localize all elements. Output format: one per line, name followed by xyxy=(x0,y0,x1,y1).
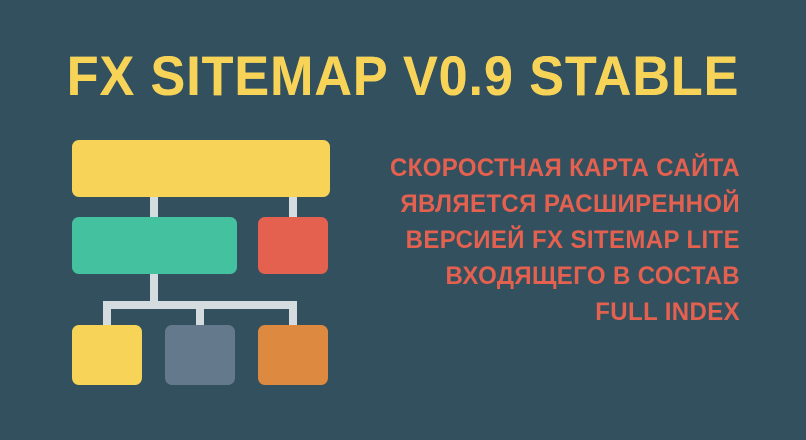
sitemap-diagram xyxy=(0,0,360,440)
connector-bus-to-yellow xyxy=(103,301,111,327)
description-line: FULL INDEX xyxy=(356,294,740,330)
root-node xyxy=(72,140,330,197)
promo-banner: FX SITEMAP V0.9 STABLE СКОРОСТНАЯ КАРТА … xyxy=(0,0,806,440)
branch-node-red xyxy=(258,217,328,274)
description-line: ВЕРСИЕЙ FX SITEMAP LITE xyxy=(356,222,740,258)
leaf-node-orange xyxy=(258,325,328,385)
leaf-node-yellow xyxy=(72,325,142,385)
description-line: СКОРОСТНАЯ КАРТА САЙТА xyxy=(356,150,740,186)
leaf-node-slate xyxy=(165,325,235,385)
description-line: ВХОДЯЩЕГО В СОСТАВ xyxy=(356,258,740,294)
description-line: ЯВЛЯЕТСЯ РАСШИРЕННОЙ xyxy=(356,186,740,222)
connector-root-to-green xyxy=(150,195,158,219)
connector-bus-to-orange xyxy=(289,301,297,327)
connector-root-to-red xyxy=(289,195,297,219)
connector-bus-to-slate xyxy=(196,301,204,327)
description-text-block: СКОРОСТНАЯ КАРТА САЙТА ЯВЛЯЕТСЯ РАСШИРЕН… xyxy=(356,150,740,330)
branch-node-green xyxy=(72,217,237,274)
